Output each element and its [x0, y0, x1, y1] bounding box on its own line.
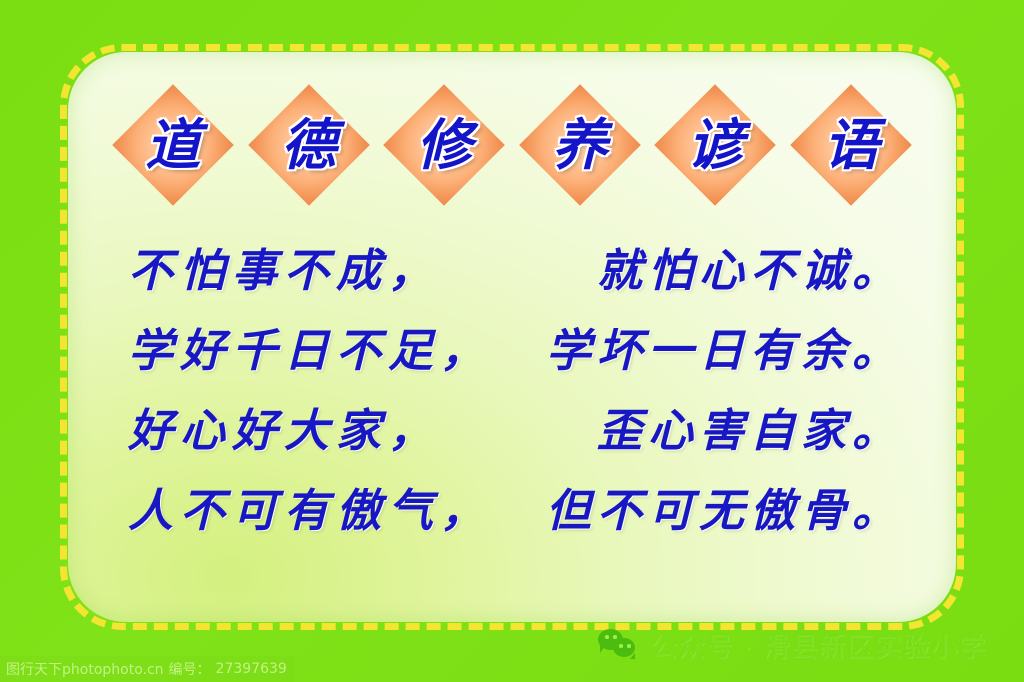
poster-canvas: 道 德 修 养 谚 语 不怕事不成， 就怕心不诚。 学好千日不足， [0, 0, 1024, 682]
proverb-clause-first: 好心好大家， [128, 394, 440, 459]
title-diamond: 谚 [654, 84, 776, 206]
title-character: 修 [417, 118, 472, 173]
proverb-line: 学好千日不足， 学坏一日有余。 [128, 314, 903, 394]
proverb-line: 好心好大家， 歪心害自家。 [128, 394, 903, 474]
footer: 公众号 · 滑县新区实验小学 [598, 622, 987, 666]
title-diamond: 修 [383, 84, 505, 206]
proverb-clause-first: 不怕事不成， [128, 234, 440, 299]
wechat-bubble-small-tail [630, 653, 635, 659]
title-character: 道 [145, 118, 200, 173]
watermark-id-label: 编号： [164, 659, 216, 679]
proverb-clause-second: 但不可无傲骨。 [546, 474, 903, 539]
proverb-clause-first: 学好千日不足， [128, 314, 492, 379]
wechat-dot [627, 644, 631, 648]
proverb-clause-second: 学坏一日有余。 [546, 314, 903, 379]
title-character: 语 [823, 118, 878, 173]
proverb-clause-first: 人不可有傲气， [128, 474, 492, 539]
wechat-bubble-large-tail [600, 646, 605, 653]
proverb-line: 不怕事不成， 就怕心不诚。 [128, 234, 903, 314]
stock-watermark: 图行天下photophoto.cn 编号： 27397639 [0, 656, 295, 682]
title-diamond: 道 [112, 84, 234, 206]
proverb-clause-second: 就怕心不诚。 [597, 234, 903, 299]
proverb-clause-second: 歪心害自家。 [597, 394, 903, 459]
title-diamond: 德 [248, 84, 370, 206]
wechat-dot [619, 644, 623, 648]
watermark-site: 图行天下photophoto.cn [6, 659, 164, 679]
proverb-list: 不怕事不成， 就怕心不诚。 学好千日不足， 学坏一日有余。 好心好大家， 歪心害… [128, 234, 903, 554]
title-character: 德 [281, 118, 336, 173]
title-character: 养 [552, 118, 607, 173]
title-diamond: 养 [519, 84, 641, 206]
footer-account-text: 公众号 · 滑县新区实验小学 [650, 625, 987, 664]
wechat-dot [613, 635, 617, 639]
wechat-icon [598, 627, 640, 661]
title-row: 道 德 修 养 谚 语 [112, 84, 912, 206]
proverb-line: 人不可有傲气， 但不可无傲骨。 [128, 474, 903, 554]
title-character: 谚 [688, 118, 743, 173]
watermark-id-value: 27397639 [216, 661, 287, 677]
title-diamond: 语 [790, 84, 912, 206]
wechat-dot [605, 635, 609, 639]
